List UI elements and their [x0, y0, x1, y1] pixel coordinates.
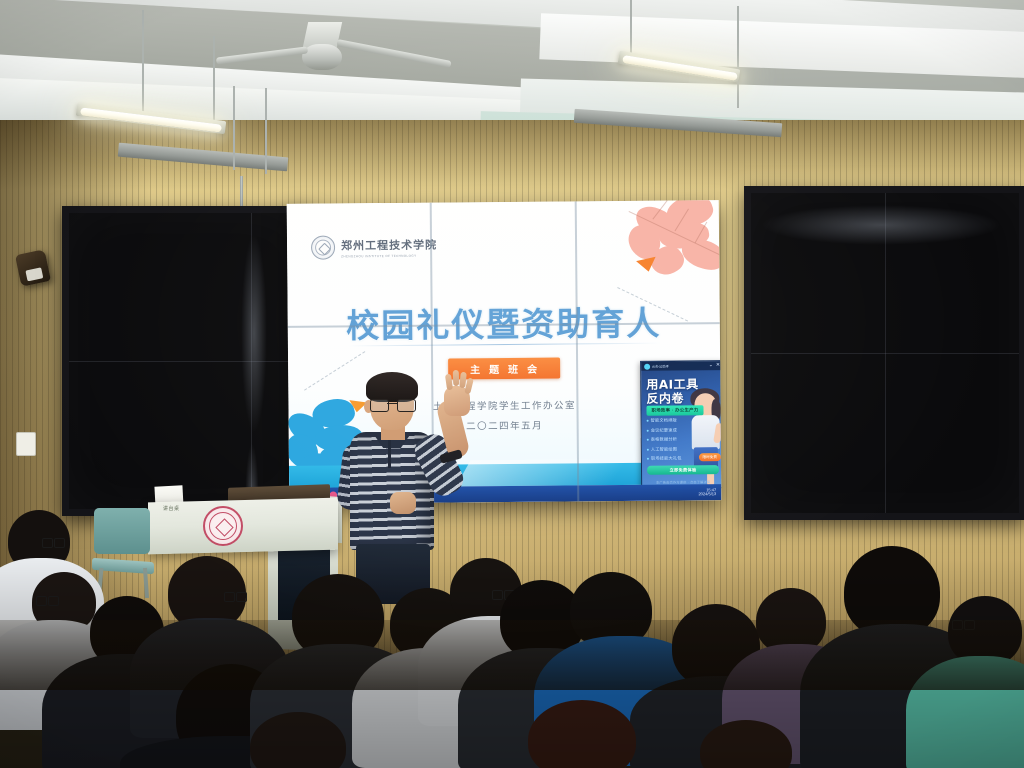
- close-icon[interactable]: ✕: [716, 363, 720, 368]
- bullet-dot-icon: [647, 429, 649, 431]
- light-hanger-rod-6: [737, 6, 739, 108]
- light-hanger-rod-4: [265, 88, 267, 174]
- bullet-dot-icon: [647, 458, 649, 460]
- wall-outlet-plate: [16, 432, 36, 456]
- list-item: 表格数据分析: [647, 436, 682, 442]
- light-hanger-rod-1: [142, 10, 144, 116]
- ad-cta-button[interactable]: 立即免费体验: [647, 465, 719, 475]
- taskbar-clock-date: 2024/5/13: [698, 492, 716, 496]
- decorative-leaf-pink-icon: [605, 200, 722, 285]
- ad-bullet-text: 职场技能大礼包: [651, 455, 682, 461]
- ad-bullet-text: 会议纪要速成: [651, 427, 677, 433]
- ad-app-name: AI办公助手: [652, 364, 669, 369]
- list-item: 职场技能大礼包: [647, 455, 682, 461]
- ad-bullet-list: 智能文档排版 会议纪要速成 表格数据分析 人工智能绘图: [647, 417, 682, 461]
- ad-popup-titlebar[interactable]: AI办公助手 ⌄ ✕: [641, 361, 721, 371]
- left-lcd-panel-off[interactable]: [62, 206, 314, 516]
- ceiling-fan-hub: [302, 44, 342, 70]
- eyeglasses-icon: [36, 596, 58, 604]
- teal-stacking-chair: [92, 508, 152, 598]
- eyeglasses-icon: [224, 592, 246, 600]
- podium-school-seal-icon: [203, 506, 243, 546]
- slide-date: 二〇二四年五月: [466, 418, 543, 433]
- decorative-dashed-line-2: [304, 351, 365, 391]
- ad-bullet-text: 人工智能绘图: [651, 446, 677, 452]
- brand-subtitle: ZHENGZHOU INSTITUTE OF TECHNOLOGY: [341, 253, 437, 258]
- wall-lower-shadow: [0, 620, 1024, 690]
- presenter-left-hand: [390, 492, 416, 514]
- chair-backrest: [94, 508, 150, 554]
- eyeglasses-icon: [370, 399, 414, 410]
- chevron-down-icon[interactable]: ⌄: [709, 363, 713, 368]
- list-item: 智能文档排版: [647, 417, 682, 423]
- list-item: 会议纪要速成: [647, 427, 682, 433]
- eyeglasses-icon: [42, 538, 64, 546]
- presenter-placket: [388, 440, 391, 468]
- ad-bullet-text: 表格数据分析: [651, 436, 677, 442]
- wall-speaker-icon: [15, 249, 51, 287]
- brand-name: 郑州工程技术学院: [341, 236, 437, 253]
- ad-cta-label: 立即免费体验: [670, 467, 697, 473]
- podium-label: 讲台桌: [163, 505, 180, 512]
- ad-bullet-text: 智能文档排版: [651, 417, 677, 423]
- light-hanger-rod-3: [233, 86, 235, 170]
- presenter-finger-2: [453, 370, 460, 386]
- ad-app-logo-icon: [644, 363, 650, 369]
- classroom-photo-scene: 郑州工程技术学院 ZHENGZHOU INSTITUTE OF TECHNOLO…: [0, 0, 1024, 768]
- ad-corner-tag: 限时免费: [699, 453, 721, 461]
- ad-headline-line2: 反内卷: [646, 389, 684, 406]
- school-seal-icon: [311, 235, 335, 259]
- bullet-dot-icon: [647, 439, 649, 441]
- list-item: 人工智能绘图: [647, 446, 682, 452]
- ad-popup-window[interactable]: AI办公助手 ⌄ ✕ 用AI工具 反内卷 职场效率 · 办公生产力: [640, 360, 721, 489]
- light-hanger-rod-2: [213, 36, 215, 124]
- slide-brand-lockup: 郑州工程技术学院 ZHENGZHOU INSTITUTE OF TECHNOLO…: [311, 235, 437, 260]
- bullet-dot-icon: [647, 420, 649, 422]
- bullet-dot-icon: [647, 448, 649, 450]
- right-lcd-panel-off[interactable]: [744, 186, 1024, 520]
- ad-pill-tag: 职场效率 · 办公生产力: [646, 405, 703, 415]
- presenter-hair: [366, 372, 418, 402]
